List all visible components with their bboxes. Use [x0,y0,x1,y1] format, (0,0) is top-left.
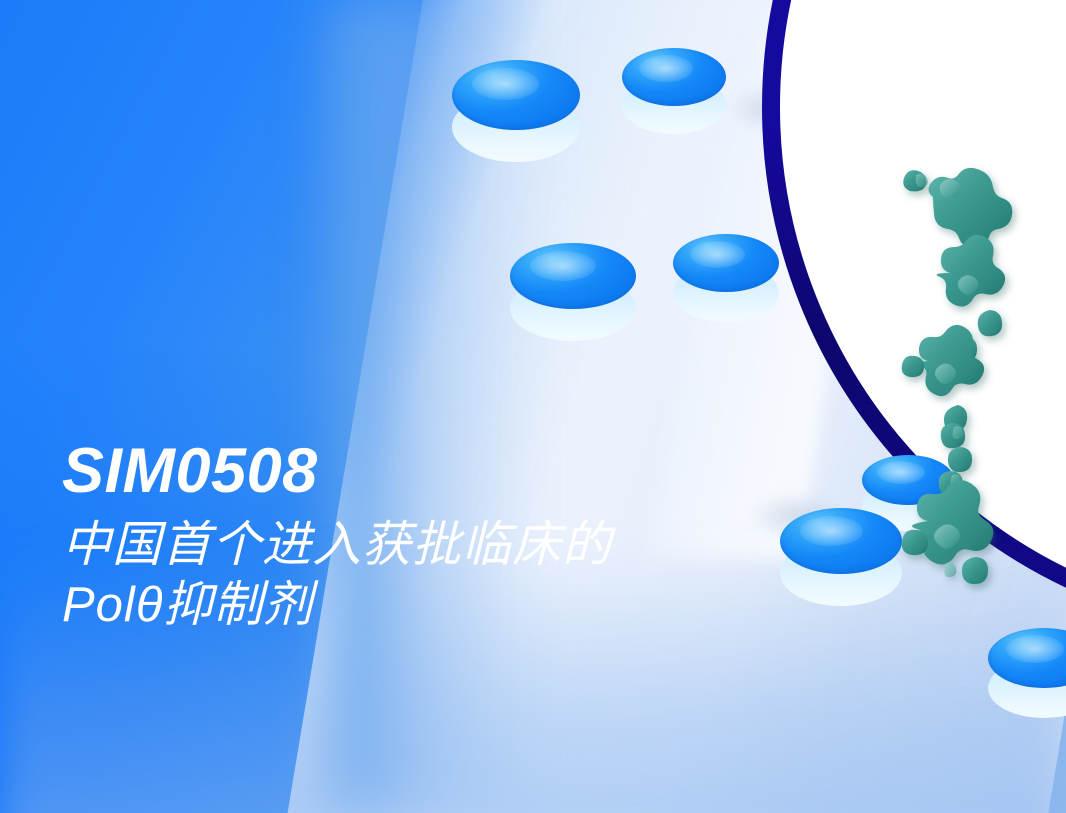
polymerase-theta-protein-ribbon [880,155,1066,585]
tablet-7-body [988,628,1066,718]
tablet-7-gloss [1006,635,1064,663]
page-title: SIM0508 [62,440,822,503]
subtitle-line-2: Polθ抑制剂 [62,576,822,636]
poster-canvas: SIM0508 中国首个进入获批临床的 Polθ抑制剂 [0,0,1066,813]
subtitle-line-1: 中国首个进入获批临床的 [62,516,822,576]
headline-block: SIM0508 中国首个进入获批临床的 Polθ抑制剂 [62,440,822,636]
